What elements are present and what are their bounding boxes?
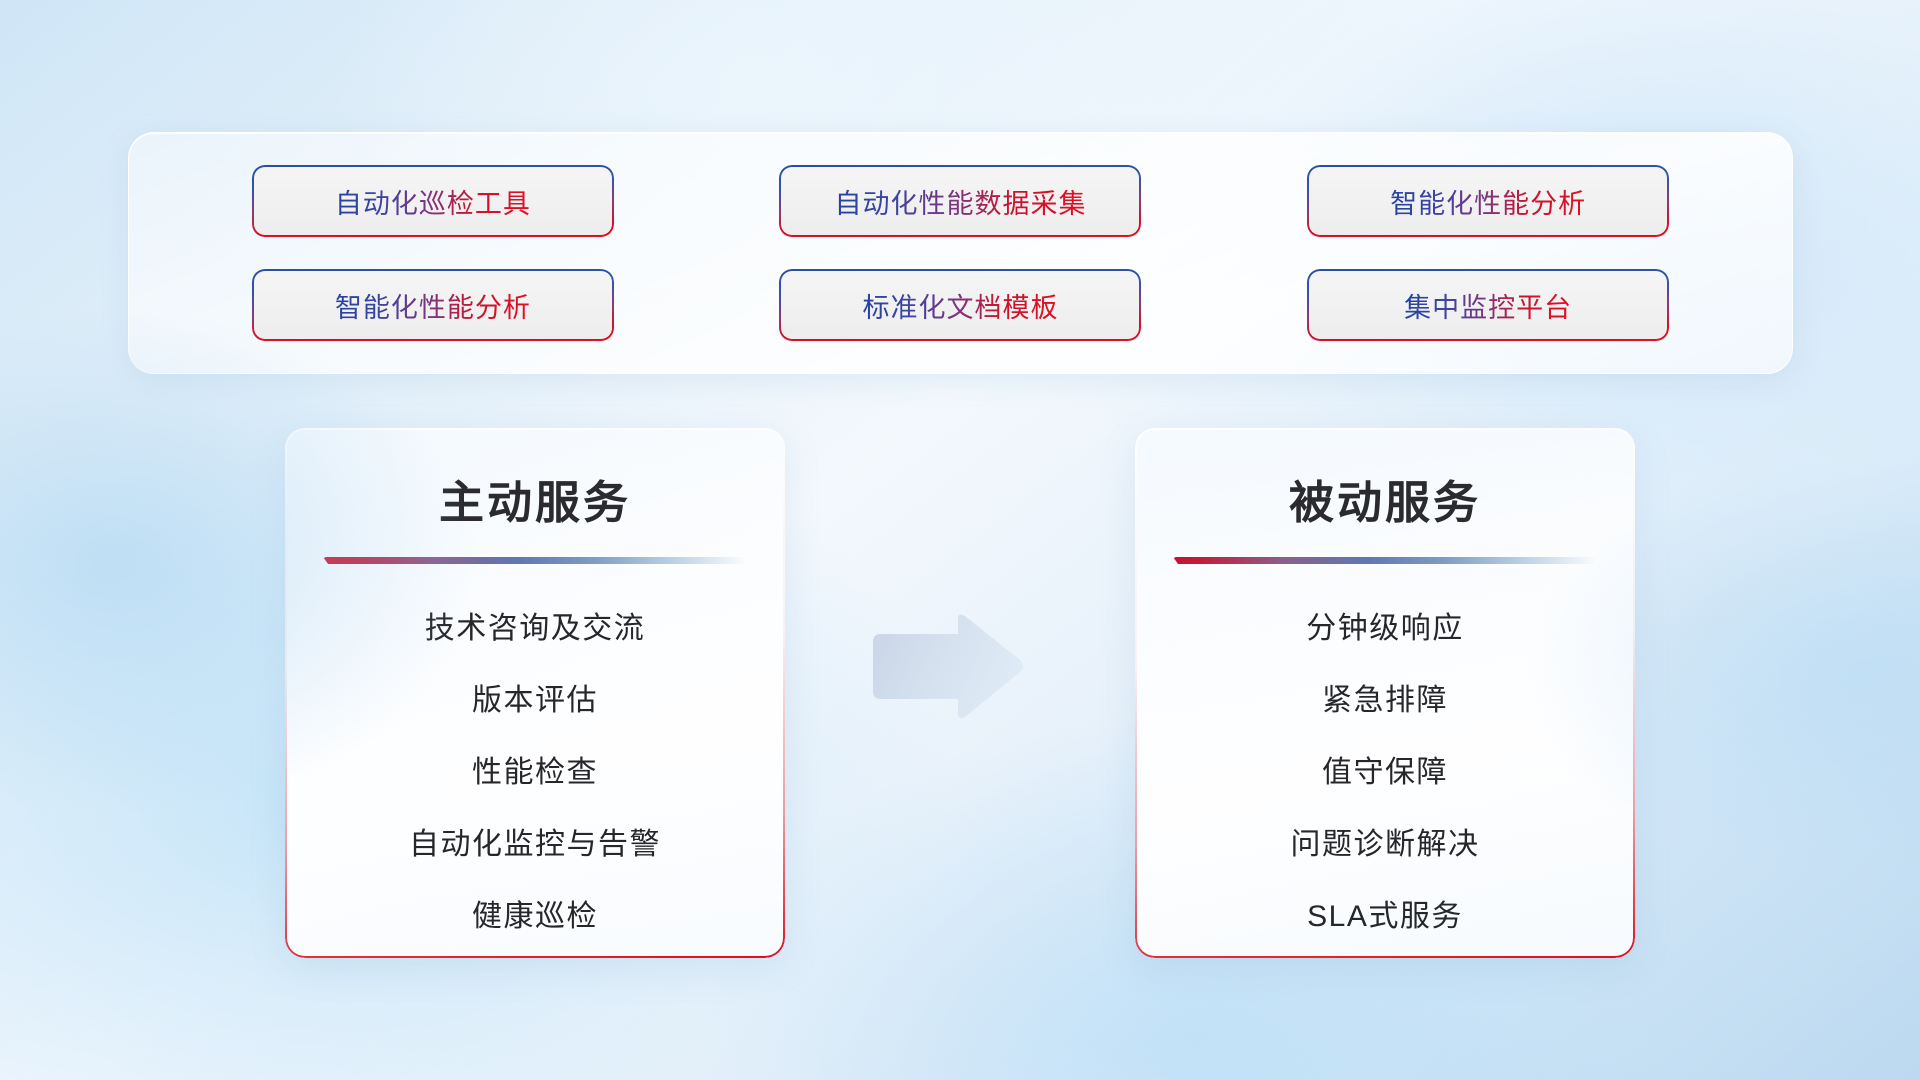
tool-chip-3[interactable]: 智能化性能分析: [1309, 167, 1667, 235]
tool-chip-label: 智能化性能分析: [1390, 182, 1586, 221]
title-divider: [323, 557, 747, 564]
service-item-list: 分钟级响应 紧急排障 值守保障 问题诊断解决 SLA式服务: [1135, 600, 1635, 946]
list-item: 自动化监控与告警: [409, 816, 661, 874]
list-item: 健康巡检: [472, 888, 598, 946]
tool-chip-label: 标准化文档模板: [862, 286, 1058, 325]
tool-chip-6[interactable]: 集中监控平台: [1309, 271, 1667, 339]
tool-chip-5[interactable]: 标准化文档模板: [781, 271, 1139, 339]
tool-chip-label: 集中监控平台: [1404, 286, 1572, 325]
tool-chip-label: 自动化巡检工具: [335, 182, 531, 221]
list-item: 分钟级响应: [1306, 600, 1464, 658]
right-arrow-icon: [866, 612, 1026, 724]
tool-chip-4[interactable]: 智能化性能分析: [254, 271, 612, 339]
list-item: SLA式服务: [1307, 888, 1463, 946]
service-card-reactive: 被动服务 分钟级响应 紧急排障 值守保障 问题诊断解决 SLA式服务: [1135, 428, 1635, 958]
service-item-list: 技术咨询及交流 版本评估 性能检查 自动化监控与告警 健康巡检: [285, 600, 785, 946]
service-card-title: 被动服务: [1135, 466, 1635, 531]
list-item: 版本评估: [472, 672, 598, 730]
list-item: 紧急排障: [1322, 672, 1448, 730]
infographic-canvas: 自动化巡检工具 自动化性能数据采集 智能化性能分析 智能化性能分析 标准化文档模…: [0, 0, 1920, 1080]
tool-chip-label: 智能化性能分析: [335, 286, 531, 325]
title-divider: [1173, 557, 1597, 564]
list-item: 值守保障: [1322, 744, 1448, 802]
service-card-title: 主动服务: [285, 466, 785, 531]
list-item: 性能检查: [472, 744, 598, 802]
service-card-proactive: 主动服务 技术咨询及交流 版本评估 性能检查 自动化监控与告警 健康巡检: [285, 428, 785, 958]
list-item: 问题诊断解决: [1291, 816, 1480, 874]
list-item: 技术咨询及交流: [425, 600, 646, 658]
tool-chip-2[interactable]: 自动化性能数据采集: [781, 167, 1139, 235]
tools-panel: 自动化巡检工具 自动化性能数据采集 智能化性能分析 智能化性能分析 标准化文档模…: [128, 132, 1793, 374]
tool-chip-label: 自动化性能数据采集: [834, 182, 1086, 221]
tool-chip-1[interactable]: 自动化巡检工具: [254, 167, 612, 235]
